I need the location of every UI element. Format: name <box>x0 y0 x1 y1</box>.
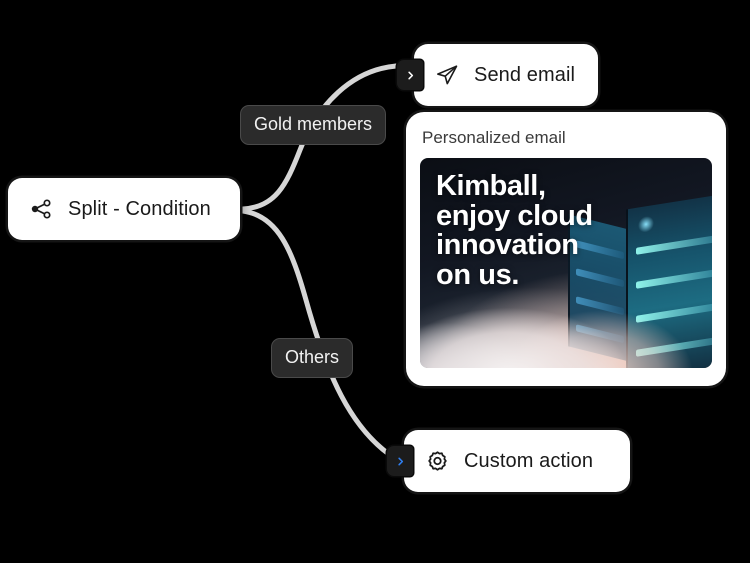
journey-canvas: Split - Condition Send email <box>0 0 750 563</box>
cloud-illustration <box>420 282 712 368</box>
share-branch-icon <box>28 196 54 222</box>
email-headline-line: on us. <box>436 261 593 291</box>
paper-plane-icon <box>434 62 460 88</box>
email-headline-line: innovation <box>436 231 593 261</box>
email-headline-line: Kimball, <box>436 172 593 202</box>
node-custom-action[interactable]: Custom action <box>404 430 630 492</box>
node-send-email[interactable]: Send email <box>414 44 598 106</box>
branch-label-gold-members[interactable]: Gold members <box>241 106 385 144</box>
email-card-title: Personalized email <box>422 128 710 148</box>
email-headline-line: enjoy cloud <box>436 202 593 232</box>
node-label: Split - Condition <box>68 198 211 221</box>
email-preview-card[interactable]: Personalized email Kimba <box>406 112 726 386</box>
node-label: Send email <box>474 64 575 87</box>
node-label: Custom action <box>464 450 593 473</box>
email-creative-image: Kimball, enjoy cloud innovation on us. <box>420 158 712 368</box>
node-connector-handle-send-email[interactable] <box>397 60 423 90</box>
email-headline: Kimball, enjoy cloud innovation on us. <box>436 172 593 290</box>
gear-icon <box>424 448 450 474</box>
branch-label-others[interactable]: Others <box>272 339 352 377</box>
node-connector-handle-custom-action[interactable] <box>387 446 413 476</box>
node-split-condition[interactable]: Split - Condition <box>8 178 240 240</box>
edge-others <box>243 211 396 459</box>
